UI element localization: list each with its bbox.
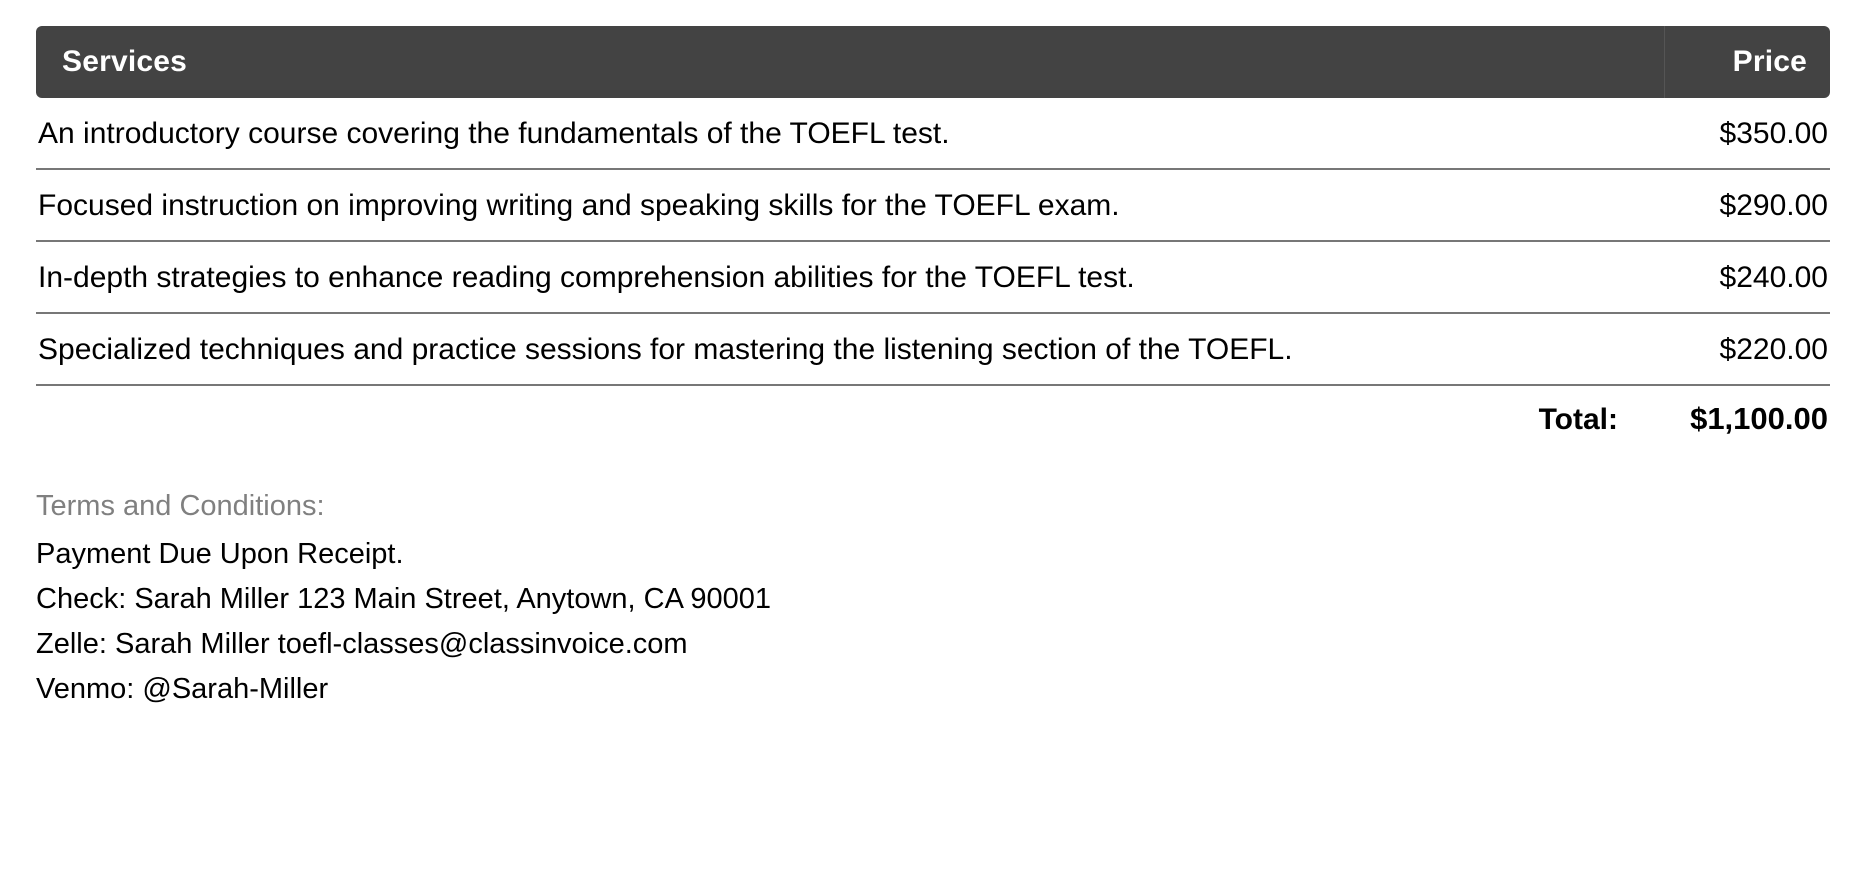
terms-line-payment-due: Payment Due Upon Receipt.	[36, 532, 1830, 577]
terms-title: Terms and Conditions:	[36, 484, 1830, 528]
service-description: In-depth strategies to enhance reading c…	[36, 242, 1720, 314]
service-price: $240.00	[1720, 242, 1830, 314]
services-price-table: Services Price An introductory course co…	[36, 26, 1830, 446]
terms-line-zelle: Zelle: Sarah Miller toefl-classes@classi…	[36, 622, 1830, 667]
service-price: $350.00	[1720, 98, 1830, 170]
invoice-sheet: Services Price An introductory course co…	[0, 0, 1868, 870]
column-header-services: Services	[36, 26, 1665, 98]
terms-line-venmo: Venmo: @Sarah-Miller	[36, 667, 1830, 712]
table-row: Focused instruction on improving writing…	[36, 170, 1830, 242]
service-description: Specialized techniques and practice sess…	[36, 314, 1720, 386]
table-row: Specialized techniques and practice sess…	[36, 314, 1830, 386]
table-row: In-depth strategies to enhance reading c…	[36, 242, 1830, 314]
service-price: $220.00	[1720, 314, 1830, 386]
total-amount: $1,100.00	[1690, 392, 1830, 446]
table-row: An introductory course covering the fund…	[36, 98, 1830, 170]
table-header-row: Services Price	[36, 26, 1830, 98]
total-row: Total: $1,100.00	[36, 386, 1830, 446]
terms-line-check: Check: Sarah Miller 123 Main Street, Any…	[36, 577, 1830, 622]
service-description: An introductory course covering the fund…	[36, 98, 1720, 170]
terms-and-conditions-section: Terms and Conditions: Payment Due Upon R…	[36, 484, 1830, 712]
total-label: Total:	[1539, 393, 1690, 447]
service-price: $290.00	[1720, 170, 1830, 242]
service-description: Focused instruction on improving writing…	[36, 170, 1720, 242]
column-header-price: Price	[1665, 26, 1830, 98]
